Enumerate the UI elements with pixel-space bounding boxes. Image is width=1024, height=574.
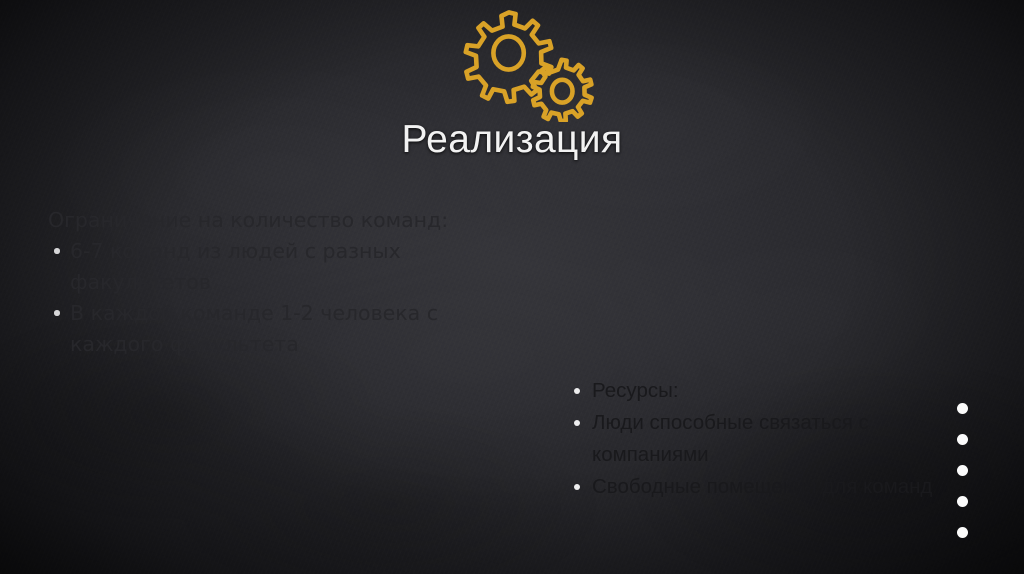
bullet-marker	[957, 496, 968, 507]
bullet-marker	[562, 407, 592, 426]
empty-bullet-column	[952, 403, 972, 538]
small-gear-hub	[552, 80, 573, 103]
bullet-marker	[44, 298, 70, 316]
list-item: Ресурсы:	[562, 375, 954, 407]
bullet-marker	[957, 465, 968, 476]
list-item-label: Свободные помещения для команд	[592, 471, 954, 503]
bullet-marker	[957, 434, 968, 445]
list-item-label: Ограничение на количество команд:	[48, 205, 474, 236]
bullet-marker	[44, 236, 70, 254]
bullet-marker	[562, 375, 592, 394]
list-item-label: Ресурсы:	[592, 375, 954, 407]
bullet-marker	[957, 403, 968, 414]
list-item: В каждой команде 1-2 человека с каждого …	[44, 298, 474, 360]
list-item: Ограничение на количество команд:	[44, 205, 474, 236]
presentation-slide: Реализация Ограничение на количество ком…	[0, 0, 1024, 574]
bullet-marker	[957, 527, 968, 538]
resources-text-block: Ресурсы: Люди способные связаться с комп…	[562, 375, 954, 503]
constraints-text-block: Ограничение на количество команд: 6-7 ко…	[44, 205, 474, 360]
list-item-label: В каждой команде 1-2 человека с каждого …	[70, 298, 474, 360]
page-title: Реализация	[0, 118, 1024, 162]
list-item-label: Люди способные связаться с компаниями	[592, 407, 954, 471]
list-item: Люди способные связаться с компаниями	[562, 407, 954, 471]
list-item-label: 6-7 команд из людей с разных факультетов	[70, 236, 474, 298]
gears-icon	[462, 2, 602, 122]
large-gear-hub	[493, 36, 523, 69]
list-item: Свободные помещения для команд	[562, 471, 954, 503]
list-item: 6-7 команд из людей с разных факультетов	[44, 236, 474, 298]
bullet-marker	[562, 471, 592, 490]
small-gear-outline	[533, 60, 592, 121]
